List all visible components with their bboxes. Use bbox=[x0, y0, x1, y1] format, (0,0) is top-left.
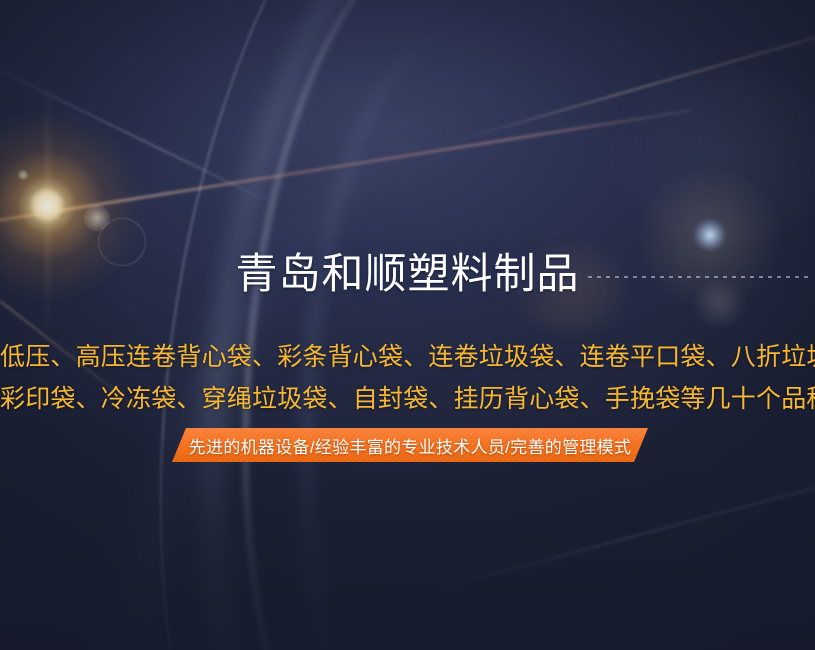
promotional-banner: 青岛和顺塑料制品 低压、高压连卷背心袋、彩条背心袋、连卷垃圾袋、连卷平口袋、八折… bbox=[0, 0, 815, 650]
tagline-ribbon: 先进的机器设备/经验丰富的专业技术人员/完善的管理模式 bbox=[172, 428, 648, 462]
product-line-1: 低压、高压连卷背心袋、彩条背心袋、连卷垃圾袋、连卷平口袋、八折垃圾袋、 bbox=[0, 336, 815, 378]
background-bottom-shade bbox=[0, 440, 815, 650]
page-title: 青岛和顺塑料制品 bbox=[0, 248, 815, 300]
ribbon-label: 先进的机器设备/经验丰富的专业技术人员/完善的管理模式 bbox=[172, 428, 648, 462]
product-line-2: 彩印袋、冷冻袋、穿绳垃圾袋、自封袋、挂历背心袋、手挽袋等几十个品种 bbox=[0, 378, 815, 420]
product-list: 低压、高压连卷背心袋、彩条背心袋、连卷垃圾袋、连卷平口袋、八折垃圾袋、 彩印袋、… bbox=[0, 336, 815, 420]
